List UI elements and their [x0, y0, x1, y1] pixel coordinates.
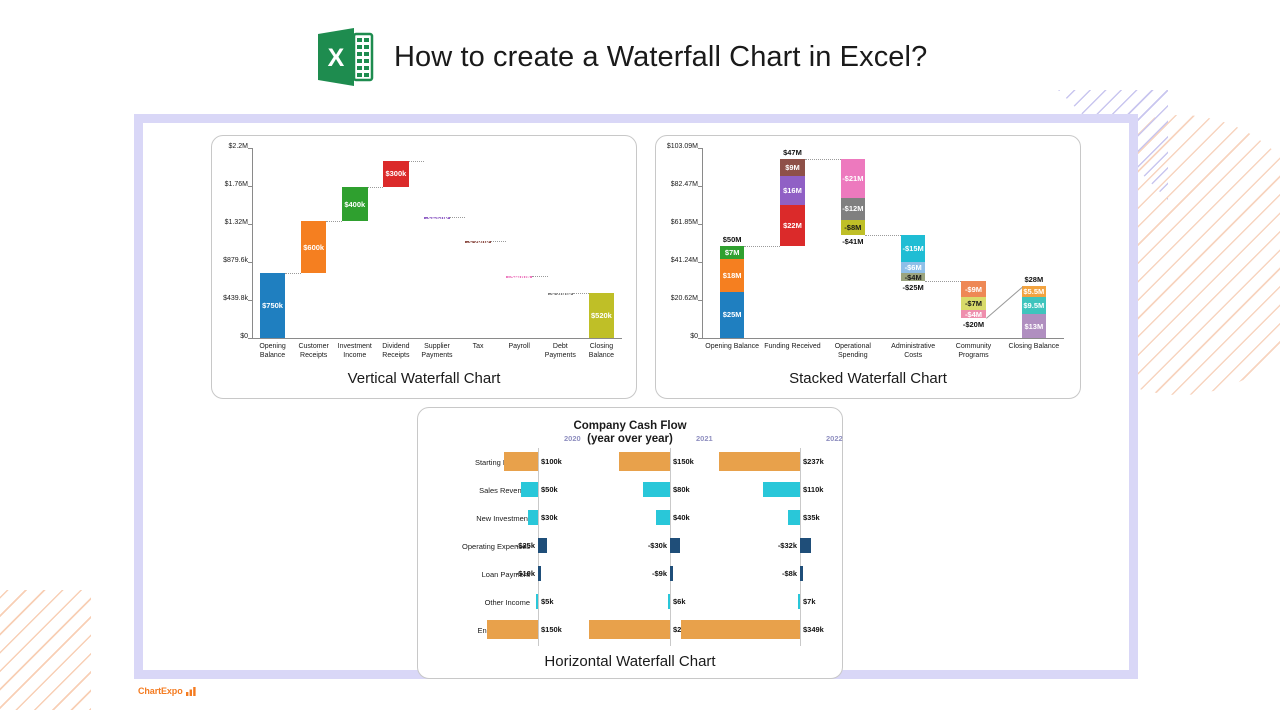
vertical-chart-bar-label: $750k	[262, 301, 283, 310]
vertical-chart-x-axis	[252, 338, 622, 339]
horizontal-chart-year-label: 2020	[564, 434, 581, 443]
stacked-chart-segment-label: -$4M	[965, 310, 982, 319]
stacked-chart-segment-label: -$4M	[905, 273, 922, 282]
stacked-chart-segment[interactable]: -$4M	[901, 273, 925, 280]
horizontal-chart-bar[interactable]	[643, 482, 670, 497]
stacked-chart-segment-label: $9.5M	[1023, 301, 1044, 310]
card-horizontal-waterfall: Company Cash Flow (year over year) Start…	[417, 407, 843, 679]
stacked-chart-segment-label: $25M	[723, 310, 742, 319]
page-title: How to create a Waterfall Chart in Excel…	[394, 41, 927, 74]
horizontal-chart-bar-label: $7k	[803, 597, 816, 606]
vertical-chart-bar[interactable]: $520k	[589, 293, 614, 338]
vertical-chart-x-label: DividendReceipts	[375, 342, 416, 360]
horizontal-chart-bar-label: $6k	[673, 597, 686, 606]
horizontal-chart-bar-label: $100k	[541, 457, 562, 466]
stacked-chart-segment-label: $22M	[783, 221, 802, 230]
horizontal-chart-bar[interactable]	[719, 452, 800, 471]
vertical-chart-x-label: ClosingBalance	[581, 342, 622, 360]
stacked-chart-y-tick-label: $20.62M	[656, 295, 698, 302]
horizontal-chart-bar-label: -$9k	[607, 569, 667, 578]
horizontal-chart-bar-label: -$32k	[737, 541, 797, 550]
vertical-chart-bar[interactable]: $600k	[301, 221, 326, 273]
vertical-chart-bar[interactable]: $750k	[260, 273, 285, 338]
vertical-chart-bar[interactable]: -$280k	[465, 241, 490, 243]
horizontal-chart-bar-label: -$25k	[475, 541, 535, 550]
horizontal-chart-category-label: New Investment	[418, 514, 530, 523]
horizontal-chart-bar[interactable]	[538, 538, 547, 553]
horizontal-chart-bar[interactable]	[670, 566, 673, 581]
vertical-chart-bar-label: $300k	[385, 169, 406, 178]
stacked-chart-segment-label: -$7M	[965, 299, 982, 308]
stacked-chart-segment[interactable]: -$8M	[841, 220, 865, 235]
horizontal-chart-bar[interactable]	[668, 594, 670, 609]
stacked-chart-y-tick-label: $82.47M	[656, 181, 698, 188]
card-vertical-waterfall: $2.2M$1.76M$1.32M$879.6k$439.8k$0$750kOp…	[211, 135, 637, 399]
vertical-chart-y-tick-label: $1.76M	[212, 181, 248, 188]
vertical-chart-x-label: SupplierPayments	[416, 342, 457, 360]
vertical-chart-y-axis	[252, 148, 253, 338]
stacked-chart-segment-label: $18M	[723, 271, 742, 280]
vertical-chart-bar[interactable]: -$400k	[506, 276, 531, 278]
stacked-chart-x-label: CommunityPrograms	[943, 342, 1003, 360]
stacked-chart-segment-label: -$21M	[842, 174, 863, 183]
vertical-chart-connector	[532, 276, 548, 277]
stacked-chart-segment[interactable]: $9.5M	[1022, 297, 1046, 315]
stacked-chart-x-label: AdministrativeCosts	[883, 342, 943, 360]
horizontal-chart-bar[interactable]	[528, 510, 538, 525]
vertical-chart-connector	[409, 161, 425, 162]
horizontal-chart-bar[interactable]	[619, 452, 670, 471]
vertical-chart-connector	[368, 187, 384, 188]
stacked-chart-total-label: -$25M	[891, 283, 935, 292]
horizontal-chart-bar[interactable]	[788, 510, 800, 525]
horizontal-chart-bar-label: $237k	[803, 457, 824, 466]
stacked-chart-x-label: Opening Balance	[702, 342, 762, 351]
stacked-chart-segment[interactable]: -$9M	[961, 281, 985, 298]
stacked-chart-segment[interactable]: -$4M	[961, 310, 985, 317]
vertical-chart-connector	[285, 273, 301, 274]
horizontal-chart-category-label: Sales Revenue	[418, 486, 530, 495]
stacked-chart-plot: $103.09M$82.47M$61.85M$41.24M$20.62M$0$2…	[656, 136, 1080, 398]
horizontal-chart-year-label: 2021	[696, 434, 713, 443]
stacked-chart-segment[interactable]: -$12M	[841, 198, 865, 220]
vertical-chart-bar-label: $400k	[344, 200, 365, 209]
stacked-chart-x-label: Funding Received	[762, 342, 822, 351]
vertical-chart-bar-label: -$650k	[425, 214, 448, 223]
stacked-chart-y-tickmark	[698, 262, 702, 263]
vertical-chart-y-tickmark	[248, 224, 252, 225]
horizontal-chart-bar[interactable]	[504, 452, 538, 471]
horizontal-chart-bar[interactable]	[656, 510, 670, 525]
horizontal-chart-bar-label: $40k	[673, 513, 690, 522]
stacked-chart-total-label: $28M	[1012, 275, 1056, 284]
vertical-chart-x-label: OpeningBalance	[252, 342, 293, 360]
stacked-chart-segment[interactable]: $25M	[720, 292, 744, 338]
vertical-chart-title: Vertical Waterfall Chart	[212, 370, 636, 387]
horizontal-chart-bar[interactable]	[800, 538, 811, 553]
vertical-chart-x-label: Payroll	[499, 342, 540, 351]
stacked-chart-connector	[865, 235, 901, 236]
stacked-chart-segment[interactable]: -$7M	[961, 297, 985, 310]
horizontal-chart-bar-label: $150k	[673, 457, 694, 466]
vertical-chart-y-tick-label: $1.32M	[212, 219, 248, 226]
vertical-chart-y-tickmark	[248, 300, 252, 301]
stacked-chart-connector	[744, 246, 780, 247]
vertical-chart-x-label: InvestmentIncome	[334, 342, 375, 360]
brand-name: ChartExpo	[138, 686, 183, 696]
stacked-chart-segment-label: -$6M	[905, 263, 922, 272]
vertical-chart-bar[interactable]: $300k	[383, 161, 408, 187]
stacked-chart-y-tick-label: $103.09M	[656, 143, 698, 150]
stacked-chart-total-label: -$20M	[951, 320, 995, 329]
vertical-chart-bar[interactable]: -$650k	[424, 217, 449, 219]
stacked-chart-segment[interactable]: $13M	[1022, 314, 1046, 338]
vertical-chart-y-tick-label: $0	[212, 333, 248, 340]
stacked-chart-y-tickmark	[698, 224, 702, 225]
vertical-chart-bar-label: -$280k	[466, 238, 489, 247]
stacked-chart-segment[interactable]: $7M	[720, 246, 744, 259]
horizontal-chart-bar-label: $150k	[541, 625, 562, 634]
vertical-chart-bar[interactable]: $400k	[342, 187, 367, 222]
stacked-chart-slant-connector	[986, 286, 1023, 318]
stacked-chart-y-tickmark	[698, 338, 702, 339]
stacked-chart-segment-label: -$12M	[842, 204, 863, 213]
vertical-chart-bar-label: $600k	[303, 243, 324, 252]
horizontal-chart-bar-label: $30k	[541, 513, 558, 522]
stacked-chart-segment-label: $5.5M	[1023, 287, 1044, 296]
stacked-chart-y-axis	[702, 148, 703, 338]
horizontal-chart-year-label: 2022	[826, 434, 843, 443]
vertical-chart-bar-label: -$400k	[508, 272, 531, 281]
stacked-chart-connector	[925, 281, 961, 282]
horizontal-chart-bar[interactable]	[763, 482, 800, 497]
stacked-chart-x-axis	[702, 338, 1064, 339]
stacked-chart-segment-label: $16M	[783, 186, 802, 195]
horizontal-chart-bar[interactable]	[681, 620, 800, 639]
stacked-chart-segment[interactable]: -$21M	[841, 159, 865, 198]
horizontal-chart-bar[interactable]	[798, 594, 800, 609]
vertical-chart-bar[interactable]: -$200k	[548, 293, 573, 295]
vertical-chart-x-label: Tax	[458, 342, 499, 351]
stacked-chart-segment[interactable]: $18M	[720, 259, 744, 292]
slide-root: X How to create a Waterfall Chart in Exc…	[0, 0, 1280, 720]
stacked-chart-y-tick-label: $41.24M	[656, 257, 698, 264]
vertical-chart-y-tickmark	[248, 186, 252, 187]
vertical-chart-y-tick-label: $439.8k	[212, 295, 248, 302]
horizontal-chart-bar-label: $50k	[541, 485, 558, 494]
card-stacked-waterfall: $103.09M$82.47M$61.85M$41.24M$20.62M$0$2…	[655, 135, 1081, 399]
stacked-chart-connector	[805, 159, 841, 160]
vertical-chart-x-label: DebtPayments	[540, 342, 581, 360]
stacked-chart-title: Stacked Waterfall Chart	[656, 370, 1080, 387]
stacked-chart-y-tickmark	[698, 148, 702, 149]
stacked-chart-y-tick-label: $61.85M	[656, 219, 698, 226]
horizontal-chart-bar[interactable]	[589, 620, 670, 639]
excel-logo-letter: X	[328, 44, 345, 72]
stacked-chart-y-tickmark	[698, 300, 702, 301]
horizontal-chart-bar-label: -$30k	[607, 541, 667, 550]
stacked-chart-segment[interactable]: $5.5M	[1022, 286, 1046, 296]
horizontal-chart-bar-label: $5k	[541, 597, 554, 606]
stacked-chart-segment-label: -$8M	[844, 223, 861, 232]
vertical-chart-connector	[326, 221, 342, 222]
vertical-chart-y-tick-label: $879.6k	[212, 257, 248, 264]
horizontal-chart-bar-label: $349k	[803, 625, 824, 634]
vertical-chart-bar-label: -$200k	[549, 290, 572, 299]
vertical-chart-connector	[573, 293, 589, 294]
stacked-chart-segment-label: $7M	[725, 248, 740, 257]
stacked-chart-y-tickmark	[698, 186, 702, 187]
slide-frame: $2.2M$1.76M$1.32M$879.6k$439.8k$0$750kOp…	[134, 114, 1138, 679]
stacked-chart-total-label: $50M	[710, 235, 754, 244]
horizontal-chart-category-label: Other Income	[418, 598, 530, 607]
horizontal-chart-bar-label: $80k	[673, 485, 690, 494]
vertical-chart-y-tickmark	[248, 148, 252, 149]
horizontal-chart-bar-label: -$8k	[737, 569, 797, 578]
vertical-chart-x-label: CustomerReceipts	[293, 342, 334, 360]
horizontal-chart-bar[interactable]	[536, 594, 538, 609]
stacked-chart-segment-label: -$15M	[903, 244, 924, 253]
horizontal-chart-title: Horizontal Waterfall Chart	[418, 653, 842, 670]
stacked-chart-segment-label: $9M	[785, 163, 800, 172]
decorative-hatch-bottom-left	[0, 590, 91, 710]
stacked-chart-x-label: Closing Balance	[1004, 342, 1064, 351]
stacked-chart-segment[interactable]: -$15M	[901, 235, 925, 263]
stacked-chart-segment[interactable]: $9M	[780, 159, 804, 176]
horizontal-chart-bar-label: $110k	[803, 485, 823, 494]
horizontal-chart-bar[interactable]	[487, 620, 538, 639]
brand-logo[interactable]: ChartExpo	[138, 686, 197, 696]
horizontal-chart-bar[interactable]	[800, 566, 803, 581]
horizontal-chart-bar[interactable]	[670, 538, 680, 553]
vertical-chart-y-tick-label: $2.2M	[212, 143, 248, 150]
vertical-chart-connector	[450, 217, 466, 218]
vertical-chart-bar-label: $520k	[591, 311, 612, 320]
horizontal-chart-bar-label: -$10k	[475, 569, 535, 578]
vertical-chart-y-tickmark	[248, 338, 252, 339]
horizontal-chart-bar-label: $35k	[803, 513, 820, 522]
excel-logo: X	[312, 24, 378, 90]
vertical-chart-y-tickmark	[248, 262, 252, 263]
vertical-chart-plot: $2.2M$1.76M$1.32M$879.6k$439.8k$0$750kOp…	[212, 136, 636, 398]
stacked-chart-x-label: OperationalSpending	[823, 342, 883, 360]
slide-header: X How to create a Waterfall Chart in Exc…	[312, 24, 927, 90]
stacked-chart-segment[interactable]: $16M	[780, 176, 804, 205]
stacked-chart-y-tick-label: $0	[656, 333, 698, 340]
horizontal-chart-bar[interactable]	[538, 566, 541, 581]
stacked-chart-segment[interactable]: $22M	[780, 205, 804, 246]
stacked-chart-total-label: -$41M	[831, 237, 875, 246]
stacked-chart-segment-label: $13M	[1024, 322, 1043, 331]
vertical-chart-connector	[491, 241, 507, 242]
horizontal-chart-plot: Starting BalanceSales RevenueNew Investm…	[418, 408, 842, 678]
stacked-chart-segment-label: -$9M	[965, 285, 982, 294]
stacked-chart-total-label: $47M	[770, 148, 814, 157]
horizontal-chart-bar[interactable]	[521, 482, 538, 497]
bar-chart-icon	[186, 686, 197, 696]
